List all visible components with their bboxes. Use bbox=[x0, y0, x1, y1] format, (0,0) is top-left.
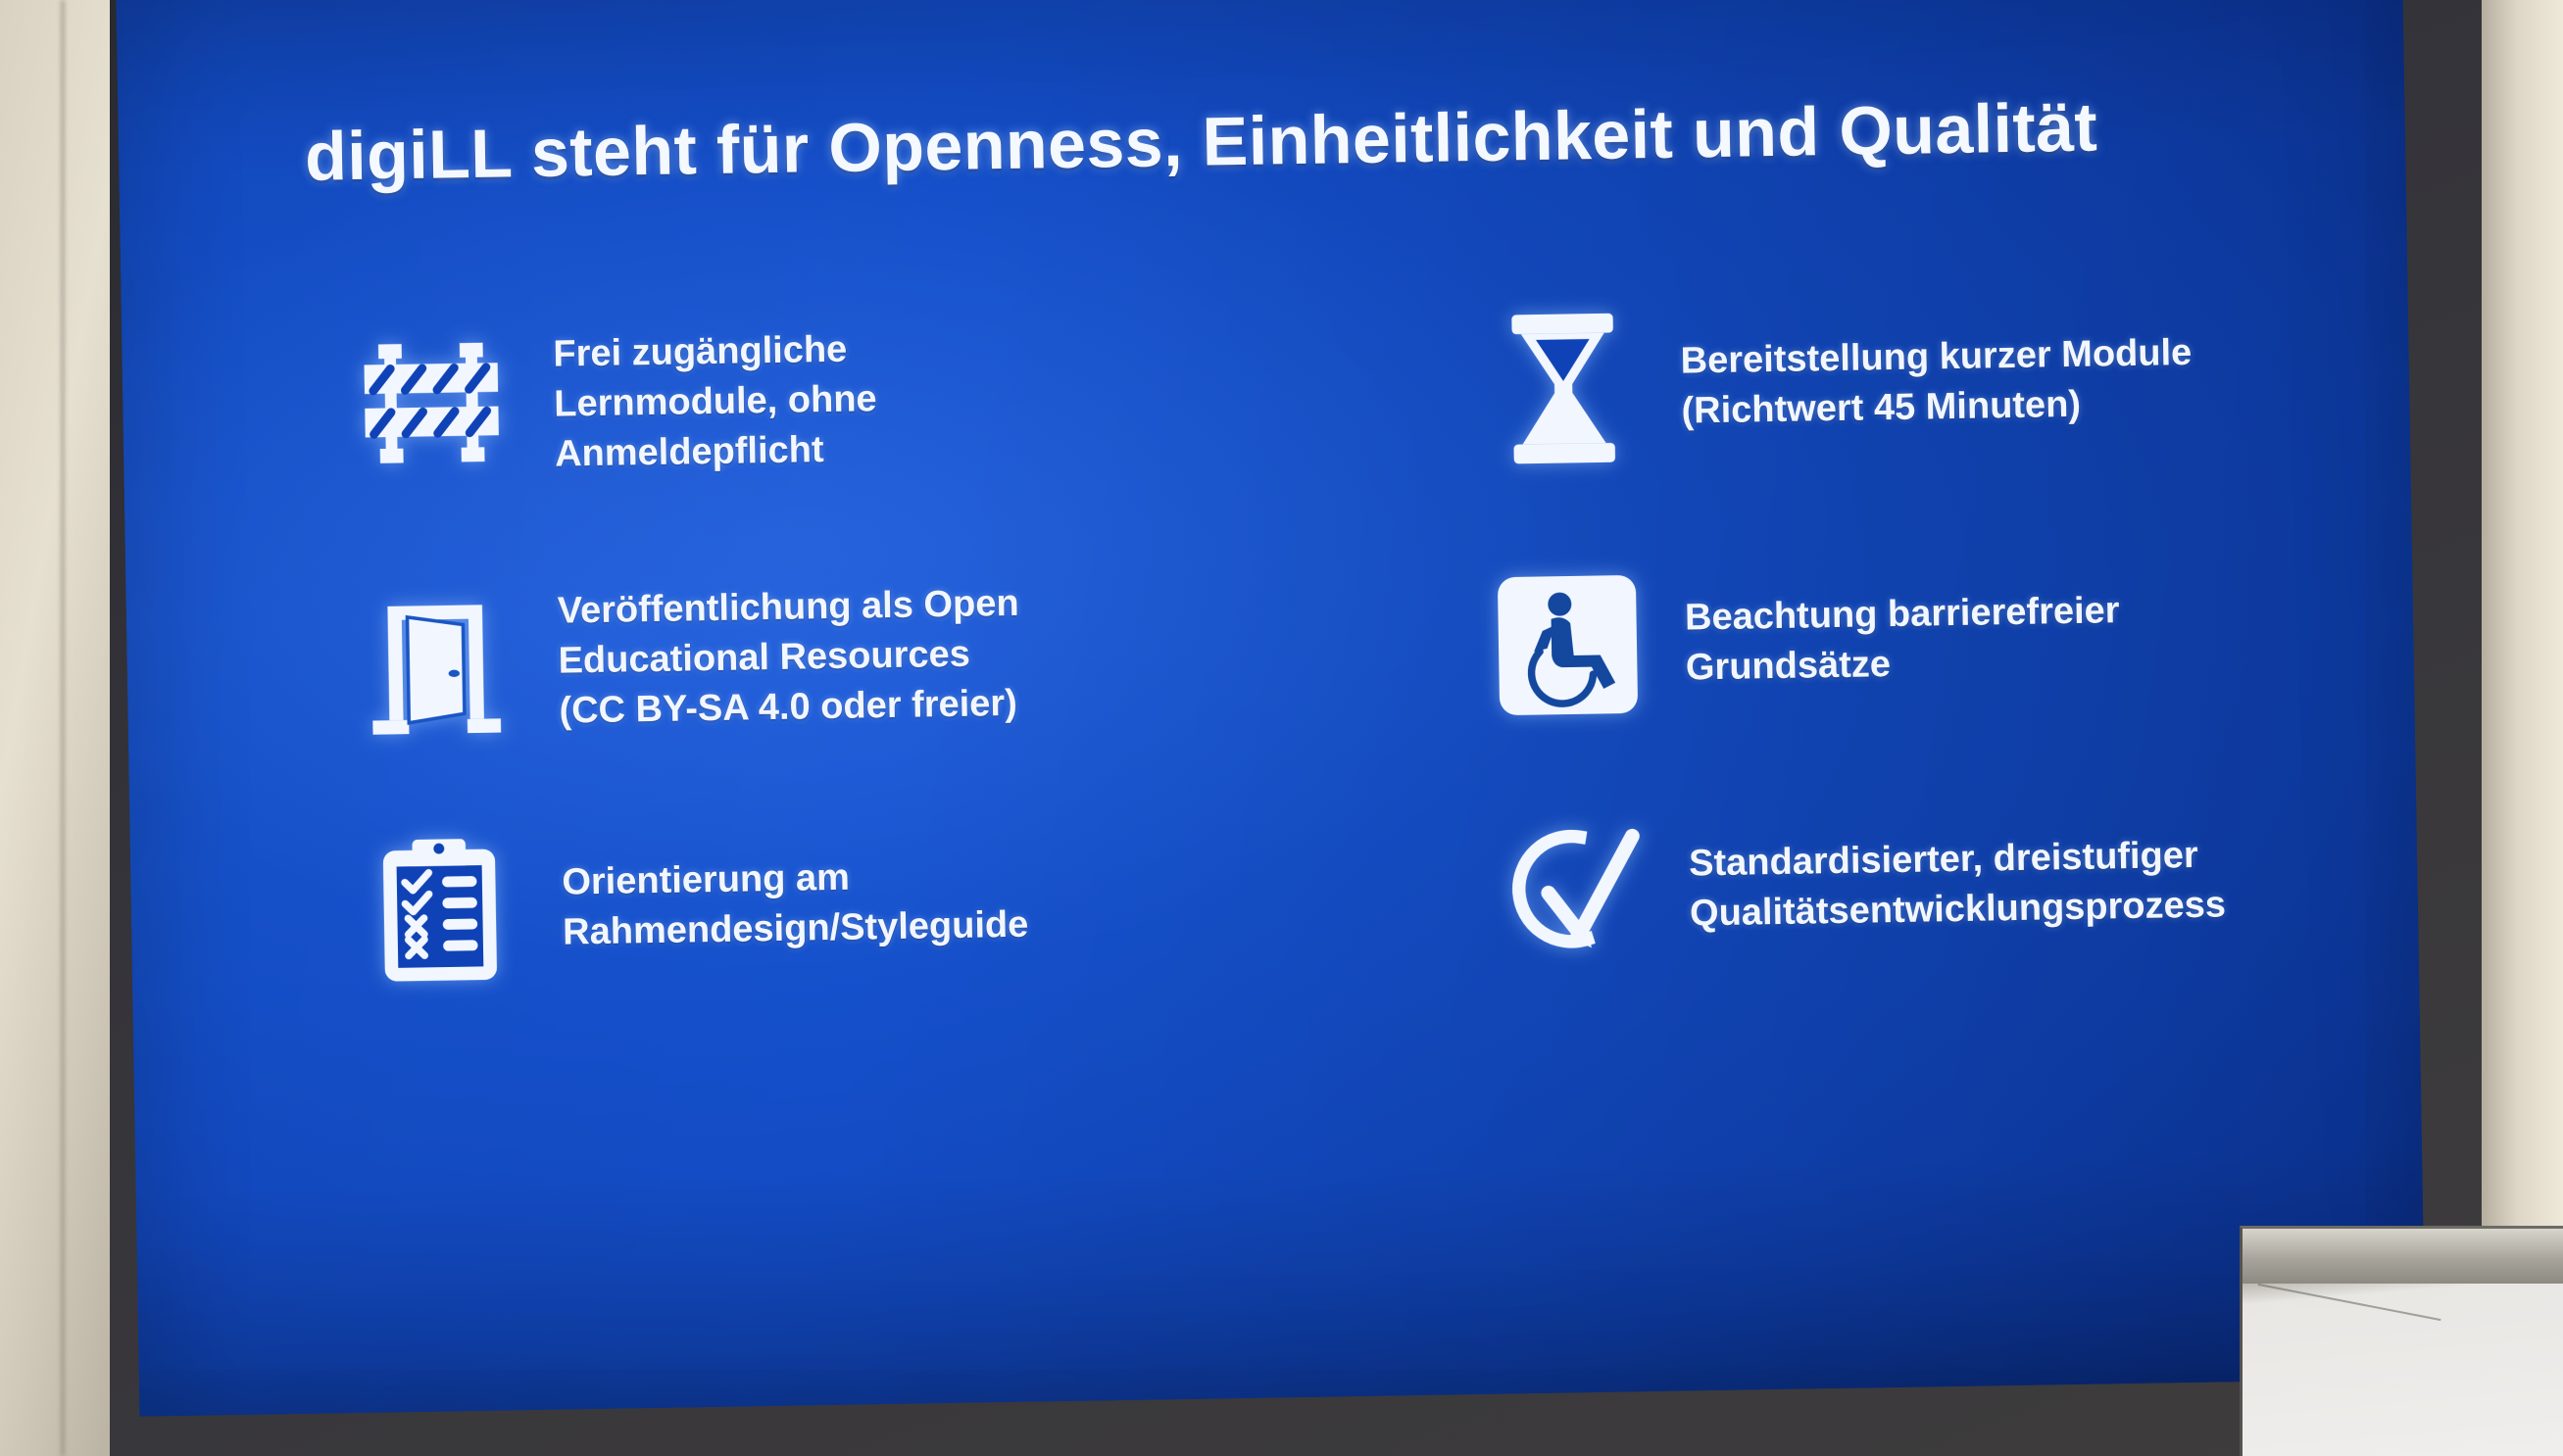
left-column: Frei zugängliche Lernmodule, ohne Anmeld… bbox=[307, 264, 1358, 1029]
bullet-item-kurze-module: Bereitstellung kurzer Module (Richtwert … bbox=[1444, 248, 2303, 518]
bullet-text: Bereitstellung kurzer Module (Richtwert … bbox=[1680, 328, 2193, 436]
bullet-line: Orientierung am bbox=[562, 849, 1028, 907]
bullet-line: Anmeldepflicht bbox=[555, 424, 878, 479]
bullet-item-qualitaetsprozess: Standardisierter, dreistufiger Qualitäts… bbox=[1453, 761, 2312, 1010]
clipboard-checklist-icon bbox=[317, 831, 565, 988]
bullet-item-barrierefreiheit: Beachtung barrierefreier Grundsätze bbox=[1448, 505, 2307, 775]
wheelchair-accessibility-icon bbox=[1449, 569, 1686, 720]
bullet-text: Frei zugängliche Lernmodule, ohne Anmeld… bbox=[553, 324, 878, 479]
right-column: Bereitstellung kurzer Module (Richtwert … bbox=[1444, 248, 2312, 1010]
left-wall-strip bbox=[0, 0, 116, 1456]
bullet-line: Qualitätsentwicklungsprozess bbox=[1690, 880, 2227, 939]
bullet-line: Lernmodule, ohne bbox=[554, 374, 877, 429]
bullet-line: (CC BY-SA 4.0 oder freier) bbox=[559, 679, 1021, 737]
bullet-line: Bereitstellung kurzer Module bbox=[1680, 328, 2192, 387]
right-wall-strip bbox=[2481, 0, 2563, 1244]
bullet-item-frei-zugaengliche: Frei zugängliche Lernmodule, ohne Anmeld… bbox=[307, 264, 1350, 538]
bullet-line: Frei zugängliche bbox=[553, 324, 876, 379]
flipchart-corner bbox=[2240, 1226, 2563, 1456]
bullet-text: Veröffentlichung als Open Educational Re… bbox=[557, 579, 1020, 737]
bullet-columns: Frei zugängliche Lernmodule, ohne Anmeld… bbox=[307, 248, 2311, 1030]
bullet-line: Grundsätze bbox=[1685, 636, 2120, 693]
bullet-line: Educational Resources bbox=[558, 629, 1020, 687]
room-photo-scene: digiLL steht für Openness, Einheitlichke… bbox=[0, 0, 2563, 1456]
slide-title: digiLL steht für Openness, Einheitlichke… bbox=[304, 87, 2297, 194]
bullet-line: (Richtwert 45 Minuten) bbox=[1681, 378, 2193, 437]
bullet-item-veroeffentlichung-oer: Veröffentlichung als Open Educational Re… bbox=[312, 520, 1355, 795]
bullet-line: Standardisierter, dreistufiger bbox=[1689, 830, 2226, 889]
bullet-line: Veröffentlichung als Open bbox=[557, 579, 1019, 637]
slide-content: digiLL steht für Openness, Einheitlichke… bbox=[116, 0, 2426, 1417]
projected-slide: digiLL steht für Openness, Einheitlichke… bbox=[116, 0, 2426, 1417]
barrier-icon bbox=[308, 331, 555, 482]
bullet-text: Standardisierter, dreistufiger Qualitäts… bbox=[1689, 830, 2227, 939]
bullet-line: Beachtung barrierefreier bbox=[1685, 586, 2120, 643]
process-check-icon bbox=[1453, 814, 1690, 967]
bullet-item-orientierung-styleguide: Orientierung am Rahmendesign/Styleguide bbox=[316, 777, 1358, 1030]
bullet-text: Orientierung am Rahmendesign/Styleguide bbox=[562, 849, 1029, 957]
hourglass-icon bbox=[1445, 309, 1683, 467]
bullet-text: Beachtung barrierefreier Grundsätze bbox=[1685, 586, 2121, 693]
bullet-line: Rahmendesign/Styleguide bbox=[563, 899, 1029, 957]
open-door-icon bbox=[312, 588, 559, 739]
